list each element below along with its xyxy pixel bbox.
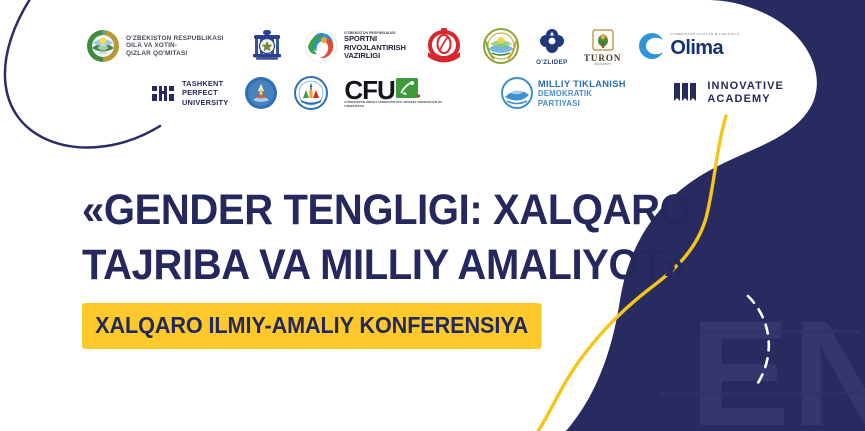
logo-red-wreath-emblem [422, 24, 466, 68]
logo-turon-university: TURON UNIVERSITY [584, 27, 622, 66]
poster-subtitle-wrap: XALQARO ILMIY-AMALIY KONFERENSIYA [82, 303, 571, 349]
innovative-academy-label: INNOVATIVE ACADEMY [707, 80, 784, 106]
watermark-ent: ENT [690, 289, 865, 431]
ministry-sport-label: O'ZBEKISTON RESPUBLIKASI SPORTNI RIVOJLA… [344, 31, 406, 61]
olima-sublabel: O'ZBEKISTON AYOLLAR BILIMDONLIK [670, 32, 739, 36]
logo-white-blue-crest [294, 76, 328, 110]
logo-green-gold-emblem [482, 27, 520, 65]
headline-line-2: TAJRIBA VA MILLIY AMALIYOT» [82, 238, 690, 293]
ozlidep-label: O'ZLIDEP [536, 59, 568, 66]
olima-label: Olima [670, 37, 739, 60]
white-blue-crest-icon [294, 76, 328, 110]
olima-swoosh-icon [637, 31, 667, 61]
logo-tashkent-perfect-university: TASHKENT PERFECT UNIVERSITY [150, 79, 228, 106]
turon-sublabel: UNIVERSITY [594, 63, 612, 66]
logo-cricket-federation-uzbekistan: CFU O'ZBEKISTON KRIKET FEDERATSIYASI CRI… [344, 78, 459, 108]
uz-state-emblem-icon [86, 29, 120, 63]
cfu-sublabel: O'ZBEKISTON KRIKET FEDERATSIYASI CRICKET… [344, 101, 459, 108]
tpu-bars-icon [150, 80, 176, 106]
headline-line-1: «GENDER TENGLIGI: XALQARO [82, 183, 690, 238]
red-wreath-icon [422, 24, 466, 68]
cfu-label: CFU [344, 79, 394, 101]
blue-roundel-icon [244, 76, 278, 110]
tpu-label: TASHKENT PERFECT UNIVERSITY [182, 79, 228, 106]
logo-blue-roundel-institute [244, 76, 278, 110]
innovative-flags-icon [672, 81, 702, 105]
green-gold-roundel-icon [482, 27, 520, 65]
ozlidep-cross-icon [536, 27, 568, 57]
sport-swirl-emblem-icon [304, 29, 338, 63]
logo-uzbekistan-family-women-committee: O'ZBEKISTON RESPUBLIKASI OILA VA XOTIN- … [86, 29, 230, 63]
conference-poster: ENT [0, 0, 865, 431]
logo-ministry-of-sport-development: O'ZBEKISTON RESPUBLIKASI SPORTNI RIVOJLA… [304, 29, 406, 63]
committee-label: O'ZBEKISTON RESPUBLIKASI OILA VA XOTIN- … [126, 35, 230, 58]
logo-row-2: TASHKENT PERFECT UNIVERSITY [150, 76, 800, 110]
partner-logos-band: O'ZBEKISTON RESPUBLIKASI OILA VA XOTIN- … [0, 0, 800, 131]
turon-label: TURON [584, 53, 622, 63]
logo-milliy-tiklanish-party: MILLIY TIKLANISH DEMOKRATIK PARTIYASI [501, 77, 633, 109]
logo-row-1: O'ZBEKISTON RESPUBLIKASI OILA VA XOTIN- … [86, 24, 755, 68]
poster-subtitle-badge: XALQARO ILMIY-AMALIY KONFERENSIYA [82, 303, 541, 349]
cfu-green-block-icon [396, 78, 420, 100]
milliy-label: MILLIY TIKLANISH DEMOKRATIK PARTIYASI [538, 78, 633, 107]
turon-crest-icon [590, 27, 616, 53]
blue-pavilion-emblem-icon [246, 25, 288, 67]
logo-academy-emblem [246, 25, 288, 67]
poster-headline: «GENDER TENGLIGI: XALQARO TAJRIBA VA MIL… [82, 183, 736, 293]
milliy-bird-circle-icon [501, 77, 533, 109]
logo-innovative-academy: INNOVATIVE ACADEMY [672, 80, 784, 106]
logo-ozlidep-party: O'ZLIDEP [536, 27, 568, 66]
logo-olima-brand: O'ZBEKISTON AYOLLAR BILIMDONLIK Olima [637, 31, 739, 61]
